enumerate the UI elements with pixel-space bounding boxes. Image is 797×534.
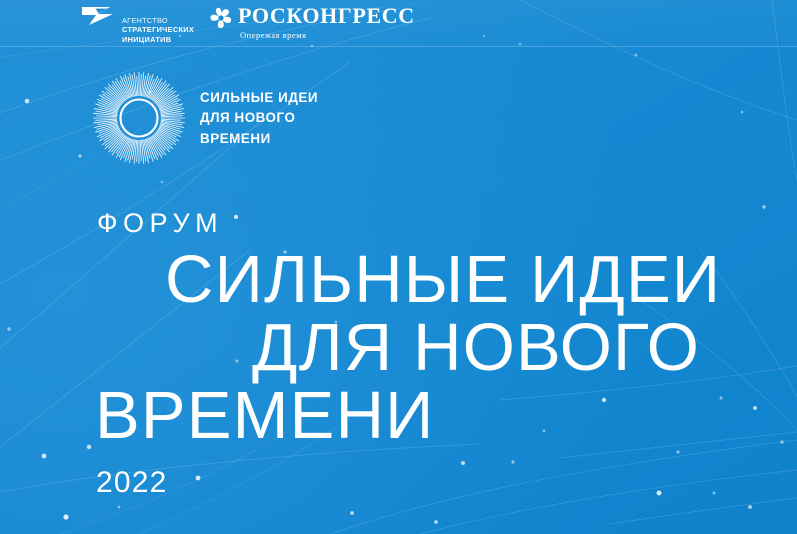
page-title-line1: СИЛЬНЫЕ ИДЕИ [165,246,797,314]
radial-burst-icon [88,70,190,166]
asi-logo-line2: СТРАТЕГИЧЕСКИХ [122,25,194,34]
kicker-label: ФОРУМ [97,208,223,238]
asi-arrow-mark-icon [80,4,118,28]
roscongress-logo[interactable]: РОСКОНГРЕСС Опережая время [209,5,415,41]
page-title-line2: ДЛЯ НОВОГО [252,314,797,382]
poster-canvas: АГЕНТСТВО СТРАТЕГИЧЕСКИХ ИНИЦИАТИВ РОСКО… [0,0,797,534]
asi-logo-line3: ИНИЦИАТИВ [122,35,194,44]
page-title-line3: ВРЕМЕНИ [95,382,797,450]
asi-logo-line1: АГЕНТСТВО [122,16,194,25]
roscongress-wordmark: РОСКОНГРЕСС [238,5,415,27]
asi-logo[interactable]: АГЕНТСТВО СТРАТЕГИЧЕСКИХ ИНИЦИАТИВ [80,3,194,44]
roscongress-pinwheel-icon [209,6,233,30]
forum-brand-line2: ДЛЯ НОВОГО [200,108,318,129]
asi-logo-text: АГЕНТСТВО СТРАТЕГИЧЕСКИХ ИНИЦИАТИВ [122,16,194,44]
forum-brand-line1: СИЛЬНЫЕ ИДЕИ [200,88,318,109]
forum-brand-line3: ВРЕМЕНИ [200,129,318,150]
forum-brand-lockup[interactable]: СИЛЬНЫЕ ИДЕИ ДЛЯ НОВОГО ВРЕМЕНИ [88,70,318,166]
roscongress-tagline: Опережая время [240,30,415,41]
page-title: СИЛЬНЫЕ ИДЕИ ДЛЯ НОВОГО ВРЕМЕНИ [0,246,797,450]
forum-brand-text: СИЛЬНЫЕ ИДЕИ ДЛЯ НОВОГО ВРЕМЕНИ [200,88,318,150]
year-label: 2022 [96,466,168,500]
